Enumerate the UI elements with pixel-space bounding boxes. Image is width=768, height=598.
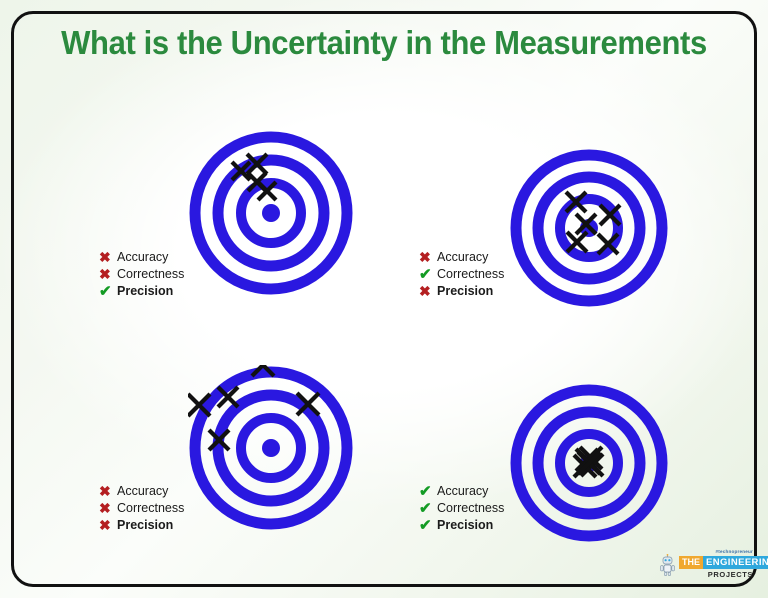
panel-bottom-left: ✖ Accuracy ✖ Correctness ✖ Precision	[0, 299, 384, 598]
target-rings-icon	[188, 365, 354, 531]
legend-label-correctness: Correctness	[117, 500, 184, 517]
legend-label-precision: Precision	[437, 517, 493, 534]
legend-row: ✖ Correctness	[99, 500, 184, 517]
cross-icon: ✖	[419, 249, 437, 266]
target-bottom-right	[509, 383, 669, 543]
cross-icon: ✖	[99, 249, 117, 266]
legend-row: ✖ Accuracy	[99, 249, 184, 266]
cross-icon: ✖	[419, 283, 437, 300]
legend-top-left: ✖ Accuracy ✖ Correctness ✔ Precision	[99, 249, 184, 300]
cross-icon: ✖	[99, 483, 117, 500]
target-bottom-left	[188, 365, 354, 531]
logo-word-engineering: ENGINEERING	[703, 556, 768, 569]
legend-row: ✖ Accuracy	[99, 483, 184, 500]
target-top-right	[509, 148, 669, 308]
robot-mascot-icon	[659, 554, 676, 576]
legend-label-correctness: Correctness	[437, 500, 504, 517]
legend-label-accuracy: Accuracy	[437, 483, 488, 500]
site-logo[interactable]: #technopreneur THE ENGINEERING PROJECTS	[657, 549, 755, 583]
legend-label-accuracy: Accuracy	[117, 483, 168, 500]
legend-row: ✔ Precision	[419, 517, 504, 534]
logo-word-projects: PROJECTS	[708, 570, 753, 579]
legend-bottom-left: ✖ Accuracy ✖ Correctness ✖ Precision	[99, 483, 184, 534]
check-icon: ✔	[419, 266, 437, 283]
legend-top-right: ✖ Accuracy ✔ Correctness ✖ Precision	[419, 249, 504, 300]
logo-word-the: THE	[679, 556, 703, 569]
cross-icon: ✖	[99, 517, 117, 534]
check-icon: ✔	[419, 500, 437, 517]
target-top-left	[188, 130, 354, 296]
logo-tagline: #technopreneur	[715, 549, 753, 554]
legend-label-correctness: Correctness	[117, 266, 184, 283]
legend-row: ✖ Precision	[99, 517, 184, 534]
cross-icon: ✖	[99, 500, 117, 517]
legend-label-precision: Precision	[117, 517, 173, 534]
target-rings-icon	[509, 148, 669, 308]
legend-row: ✔ Precision	[99, 283, 184, 300]
check-icon: ✔	[419, 517, 437, 534]
legend-label-accuracy: Accuracy	[437, 249, 488, 266]
legend-label-precision: Precision	[117, 283, 173, 300]
legend-label-accuracy: Accuracy	[117, 249, 168, 266]
legend-label-precision: Precision	[437, 283, 493, 300]
legend-label-correctness: Correctness	[437, 266, 504, 283]
legend-row: ✖ Accuracy	[419, 249, 504, 266]
legend-row: ✔ Correctness	[419, 500, 504, 517]
cross-icon: ✖	[99, 266, 117, 283]
target-rings-icon	[188, 130, 354, 296]
legend-row: ✔ Accuracy	[419, 483, 504, 500]
panel-top-left: ✖ Accuracy ✖ Correctness ✔ Precision	[0, 0, 384, 299]
legend-row: ✖ Correctness	[99, 266, 184, 283]
slide-canvas: What is the Uncertainty in the Measureme…	[0, 0, 768, 598]
check-icon: ✔	[99, 283, 117, 300]
legend-bottom-right: ✔ Accuracy ✔ Correctness ✔ Precision	[419, 483, 504, 534]
logo-wordmark: THE ENGINEERING	[679, 556, 768, 569]
target-rings-icon	[509, 383, 669, 543]
panel-top-right: ✖ Accuracy ✔ Correctness ✖ Precision	[384, 0, 768, 299]
legend-row: ✖ Precision	[419, 283, 504, 300]
hit-marks	[574, 447, 603, 477]
legend-row: ✔ Correctness	[419, 266, 504, 283]
check-icon: ✔	[419, 483, 437, 500]
